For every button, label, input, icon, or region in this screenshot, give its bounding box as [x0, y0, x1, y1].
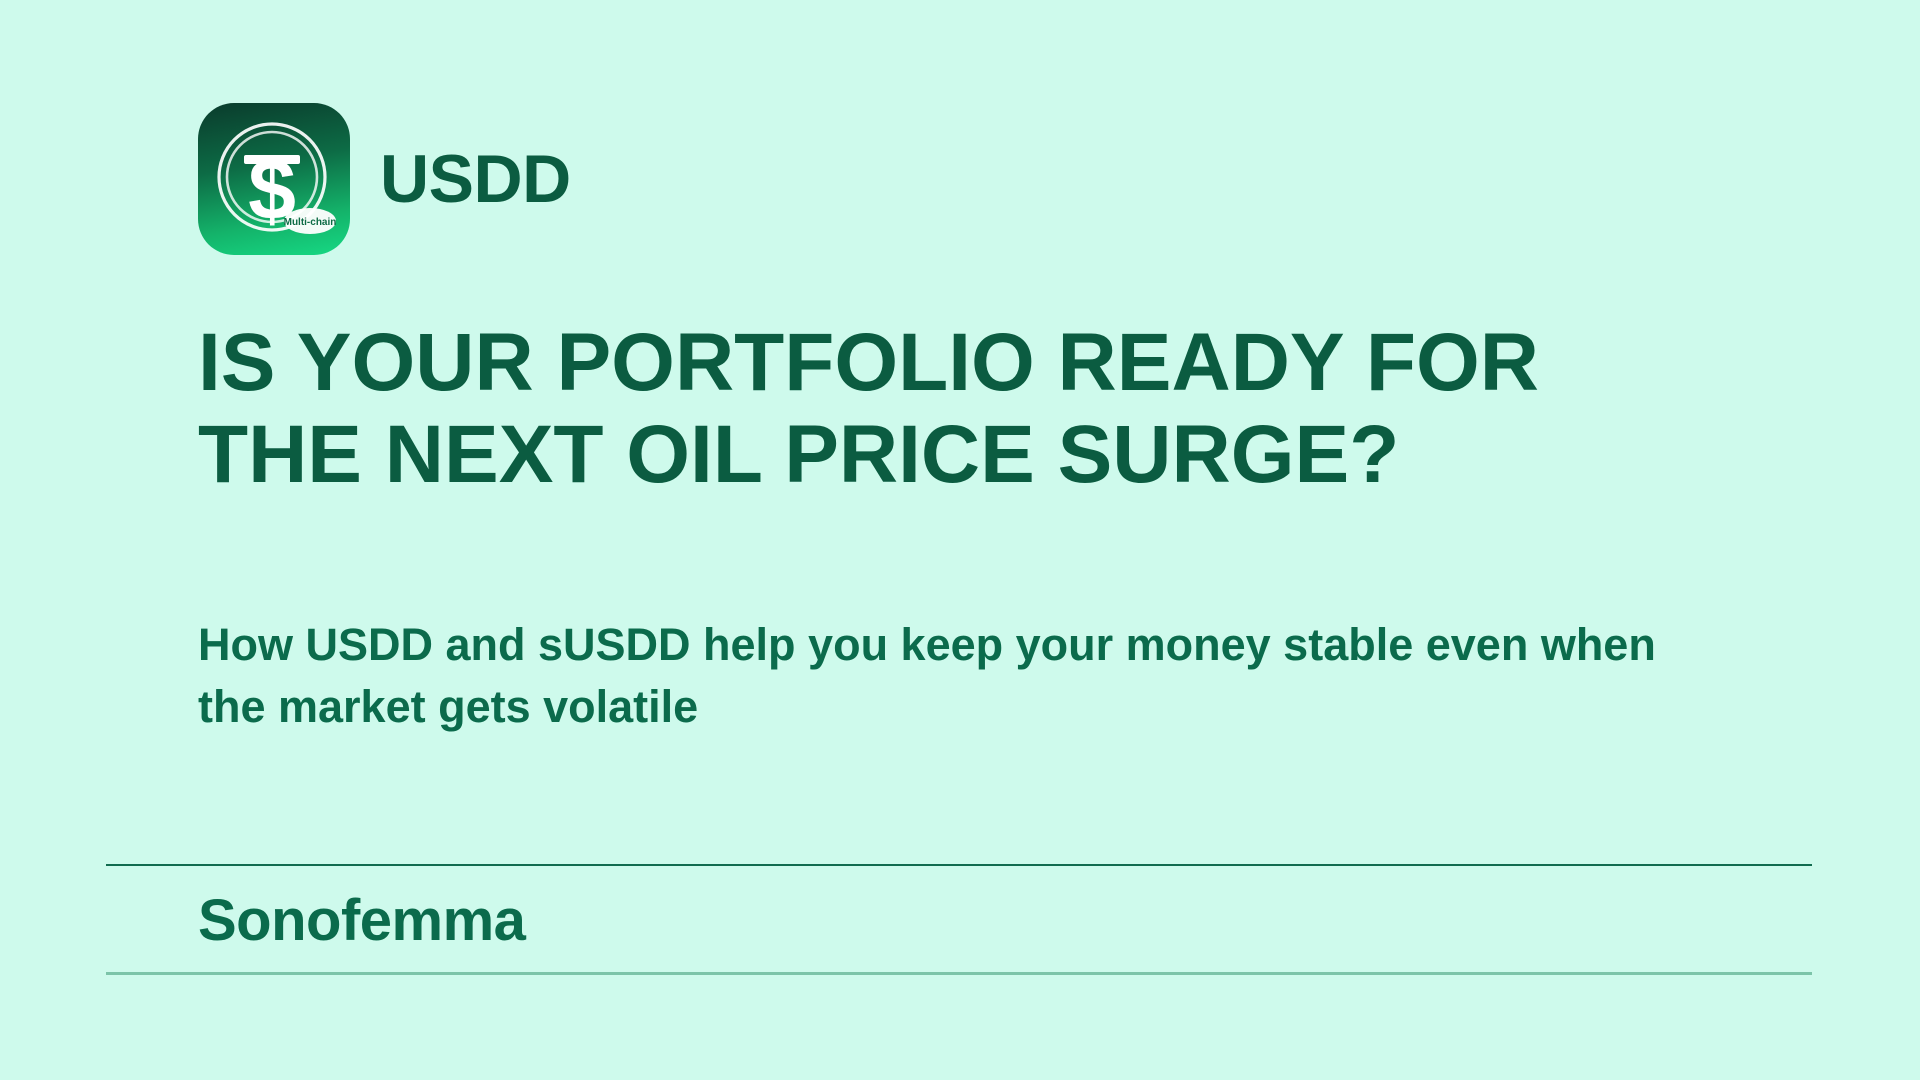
footer: Sonofemma [106, 864, 1812, 975]
dollar-coin-icon: $ Multi-chain [198, 103, 350, 255]
page-subtitle: How USDD and sUSDD help you keep your mo… [198, 614, 1698, 738]
footer-brand-name: Sonofemma [198, 892, 1812, 950]
footer-divider-bottom [106, 972, 1812, 975]
page-title: IS YOUR PORTFOLIO READY FOR THE NEXT OIL… [198, 317, 1722, 501]
multi-chain-badge-label: Multi-chain [284, 217, 337, 228]
social-card: $ Multi-chain USDD IS YOUR PORTFOLIO REA… [0, 0, 1920, 1080]
brand-name: USDD [380, 145, 571, 213]
brand-row: $ Multi-chain USDD [198, 103, 1722, 255]
footer-content: Sonofemma [106, 866, 1812, 972]
usdd-logo: $ Multi-chain [198, 103, 350, 255]
